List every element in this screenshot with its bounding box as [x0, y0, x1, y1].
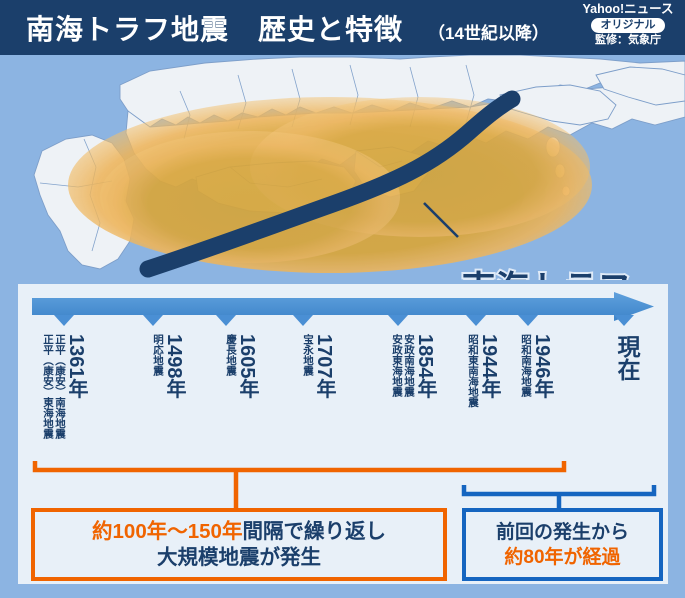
interval-callout-box: 約100年〜150年間隔で繰り返し 大規模地震が発生 — [31, 508, 447, 581]
timeline-event-1946: 1946年 昭和南海地震 — [520, 334, 551, 399]
timeline-event-1361: 1361年 正平（康安）南海地震 正平（康安）東海地震 — [42, 334, 85, 439]
brand-original-badge: オリジナル — [591, 18, 665, 33]
timeline-event-1854: 1854年 安政南海地震 安政東海地震 — [391, 334, 434, 399]
japan-map-svg — [0, 55, 685, 280]
timeline-event-1605: 1605年 慶長地震 — [225, 334, 256, 399]
event-label: 安政東海地震 — [391, 334, 403, 397]
event-year: 1605年 — [237, 334, 256, 399]
page-title: 南海トラフ地震 歴史と特徴 — [26, 8, 403, 48]
event-year: 1944年 — [479, 334, 498, 399]
timeline-arrow — [18, 292, 668, 326]
event-year: 1361年 — [66, 334, 85, 399]
interval-rest: 間隔で繰り返し — [242, 520, 386, 543]
elapsed-line-2: 約80年が経過 — [504, 545, 620, 570]
header-bar: 南海トラフ地震 歴史と特徴 （14世紀以降） Yahoo!ニュース オリジナル … — [0, 0, 685, 55]
interval-line-1: 約100年〜150年間隔で繰り返し — [92, 519, 386, 545]
hazard-zone — [68, 97, 592, 273]
timeline-event-1707: 1707年 宝永地震 — [302, 334, 333, 399]
nankai-trough-label: 南海トラフ — [462, 261, 632, 280]
timeline-event-1944: 1944年 昭和東南海地震 — [467, 334, 498, 408]
brand-block: Yahoo!ニュース オリジナル 監修：気象庁 — [579, 2, 677, 47]
elapsed-line-1: 前回の発生から — [496, 520, 629, 545]
interval-line-2: 大規模地震が発生 — [157, 545, 321, 571]
event-year: 1498年 — [164, 334, 183, 399]
brand-supervisor: 監修：気象庁 — [579, 34, 677, 47]
timeline-now-label: 現在 — [614, 335, 640, 381]
timeline-event-1498: 1498年 明応地震 — [152, 334, 183, 399]
brand-name: Yahoo!ニュース — [579, 2, 677, 17]
infographic-root: 南海トラフ地震 歴史と特徴 （14世紀以降） Yahoo!ニュース オリジナル … — [0, 0, 685, 598]
event-year: 1946年 — [532, 334, 551, 399]
event-label: 正平（康安）東海地震 — [42, 334, 54, 439]
interval-accent: 約100年〜150年 — [92, 520, 242, 543]
event-year: 1707年 — [314, 334, 333, 399]
event-year: 1854年 — [415, 334, 434, 399]
map-area: 南海トラフ 南海トラフ — [0, 55, 685, 280]
timeline-ticks — [54, 315, 634, 326]
page-subtitle: （14世紀以降） — [428, 19, 549, 44]
elapsed-callout-box: 前回の発生から 約80年が経過 — [462, 508, 663, 581]
